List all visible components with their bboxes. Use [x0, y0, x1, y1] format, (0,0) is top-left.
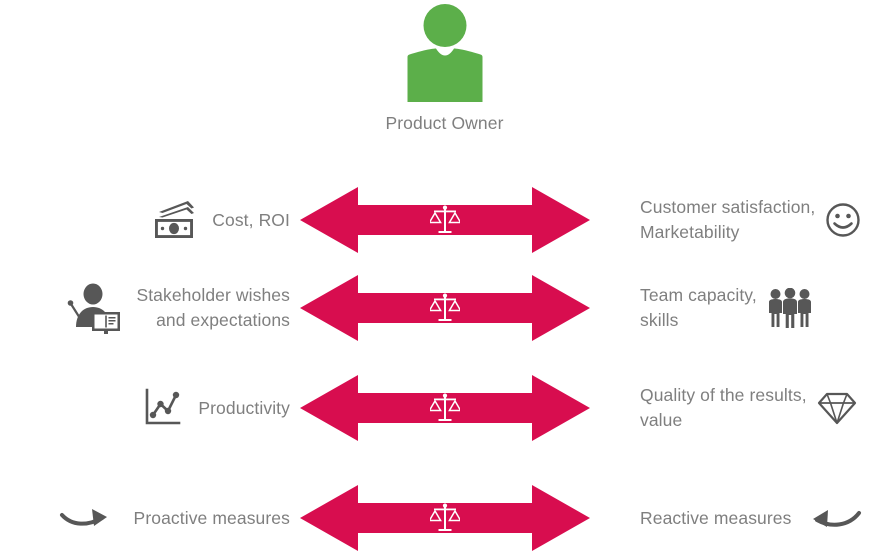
row-2-right-label: Team capacity, skills	[640, 283, 757, 333]
row-3-arrow	[300, 371, 590, 445]
curved-arrow-left-icon	[801, 501, 863, 535]
balance-scale-icon	[430, 502, 460, 534]
balance-row-1: Cost, ROI Customer satisfaction, Marketa…	[0, 183, 889, 257]
balance-row-4: Proactive measures Reactive measures	[0, 481, 889, 555]
row-1-right: Customer satisfaction, Marketability	[590, 195, 889, 245]
smiley-face-icon	[825, 202, 861, 238]
row-1-left-label: Cost, ROI	[212, 208, 290, 233]
row-3-left: Productivity	[0, 387, 300, 429]
line-chart-icon	[142, 387, 184, 429]
row-4-right-label: Reactive measures	[640, 506, 791, 531]
row-4-left-label: Proactive measures	[134, 506, 290, 531]
balance-row-3: Productivity Quality of the results, val…	[0, 371, 889, 445]
diagram-canvas: Product Owner Cost, ROI	[0, 0, 889, 559]
balance-scale-icon	[430, 204, 460, 236]
row-2-arrow	[300, 271, 590, 345]
balance-row-2: Stakeholder wishes and expectations Team…	[0, 271, 889, 345]
presenter-stakeholder-icon	[66, 282, 122, 334]
team-group-icon	[767, 288, 813, 328]
balance-scale-icon	[430, 292, 460, 324]
money-cash-icon	[150, 198, 198, 242]
product-owner-block: Product Owner	[0, 4, 889, 136]
person-icon	[406, 4, 484, 102]
product-owner-label: Product Owner	[385, 110, 503, 136]
row-3-right-label: Quality of the results, value	[640, 383, 807, 433]
row-3-left-label: Productivity	[198, 396, 290, 421]
diamond-gem-icon	[817, 390, 857, 426]
row-2-right: Team capacity, skills	[590, 283, 889, 333]
curved-arrow-right-icon	[58, 501, 120, 535]
row-1-right-label: Customer satisfaction, Marketability	[640, 195, 815, 245]
row-2-left-label: Stakeholder wishes and expectations	[136, 283, 290, 333]
row-4-arrow	[300, 481, 590, 555]
row-4-right: Reactive measures	[590, 501, 889, 535]
row-2-left: Stakeholder wishes and expectations	[0, 282, 300, 334]
balance-scale-icon	[430, 392, 460, 424]
row-4-left: Proactive measures	[0, 501, 300, 535]
row-3-right: Quality of the results, value	[590, 383, 889, 433]
row-1-arrow	[300, 183, 590, 257]
row-1-left: Cost, ROI	[0, 198, 300, 242]
